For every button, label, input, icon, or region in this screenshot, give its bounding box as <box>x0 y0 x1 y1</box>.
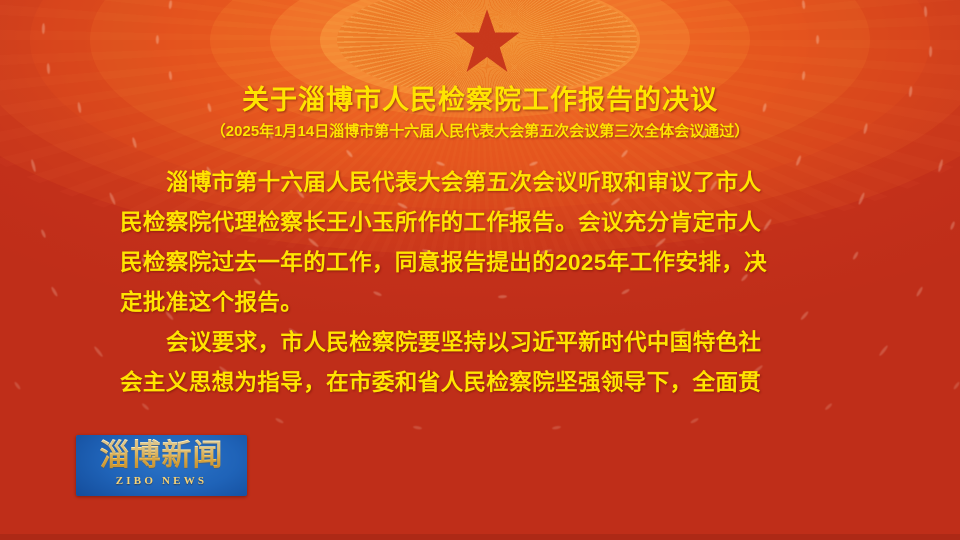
body-line: 淄博市第十六届人民代表大会第五次会议听取和审议了市人 <box>120 163 842 203</box>
page-title: 关于淄博市人民检察院工作报告的决议 <box>0 78 960 117</box>
logo-chinese-text: 淄博新闻 <box>76 438 247 474</box>
body-line: 定批准这个报告。 <box>120 283 842 323</box>
page-subtitle: （2025年1月14日淄博市第十六届人民代表大会第五次会议第三次全体会议通过） <box>0 120 960 141</box>
body-text: 淄博市第十六届人民代表大会第五次会议听取和审议了市人 民检察院代理检察长王小玉所… <box>120 163 842 403</box>
body-line: 会议要求，市人民检察院要坚持以习近平新时代中国特色社 <box>120 323 842 363</box>
logo-english-text: ZIBO NEWS <box>76 475 247 487</box>
channel-logo-badge: 淄博新闻 ZIBO NEWS <box>76 435 247 496</box>
broadcast-news-frame: 关于淄博市人民检察院工作报告的决议 （2025年1月14日淄博市第十六届人民代表… <box>0 0 960 540</box>
body-line: 民检察院过去一年的工作，同意报告提出的2025年工作安排，决 <box>120 243 842 283</box>
body-line: 民检察院代理检察长王小玉所作的工作报告。会议充分肯定市人 <box>120 203 842 243</box>
body-line: 会主义思想为指导，在市委和省人民检察院坚强领导下，全面贯 <box>120 363 842 403</box>
